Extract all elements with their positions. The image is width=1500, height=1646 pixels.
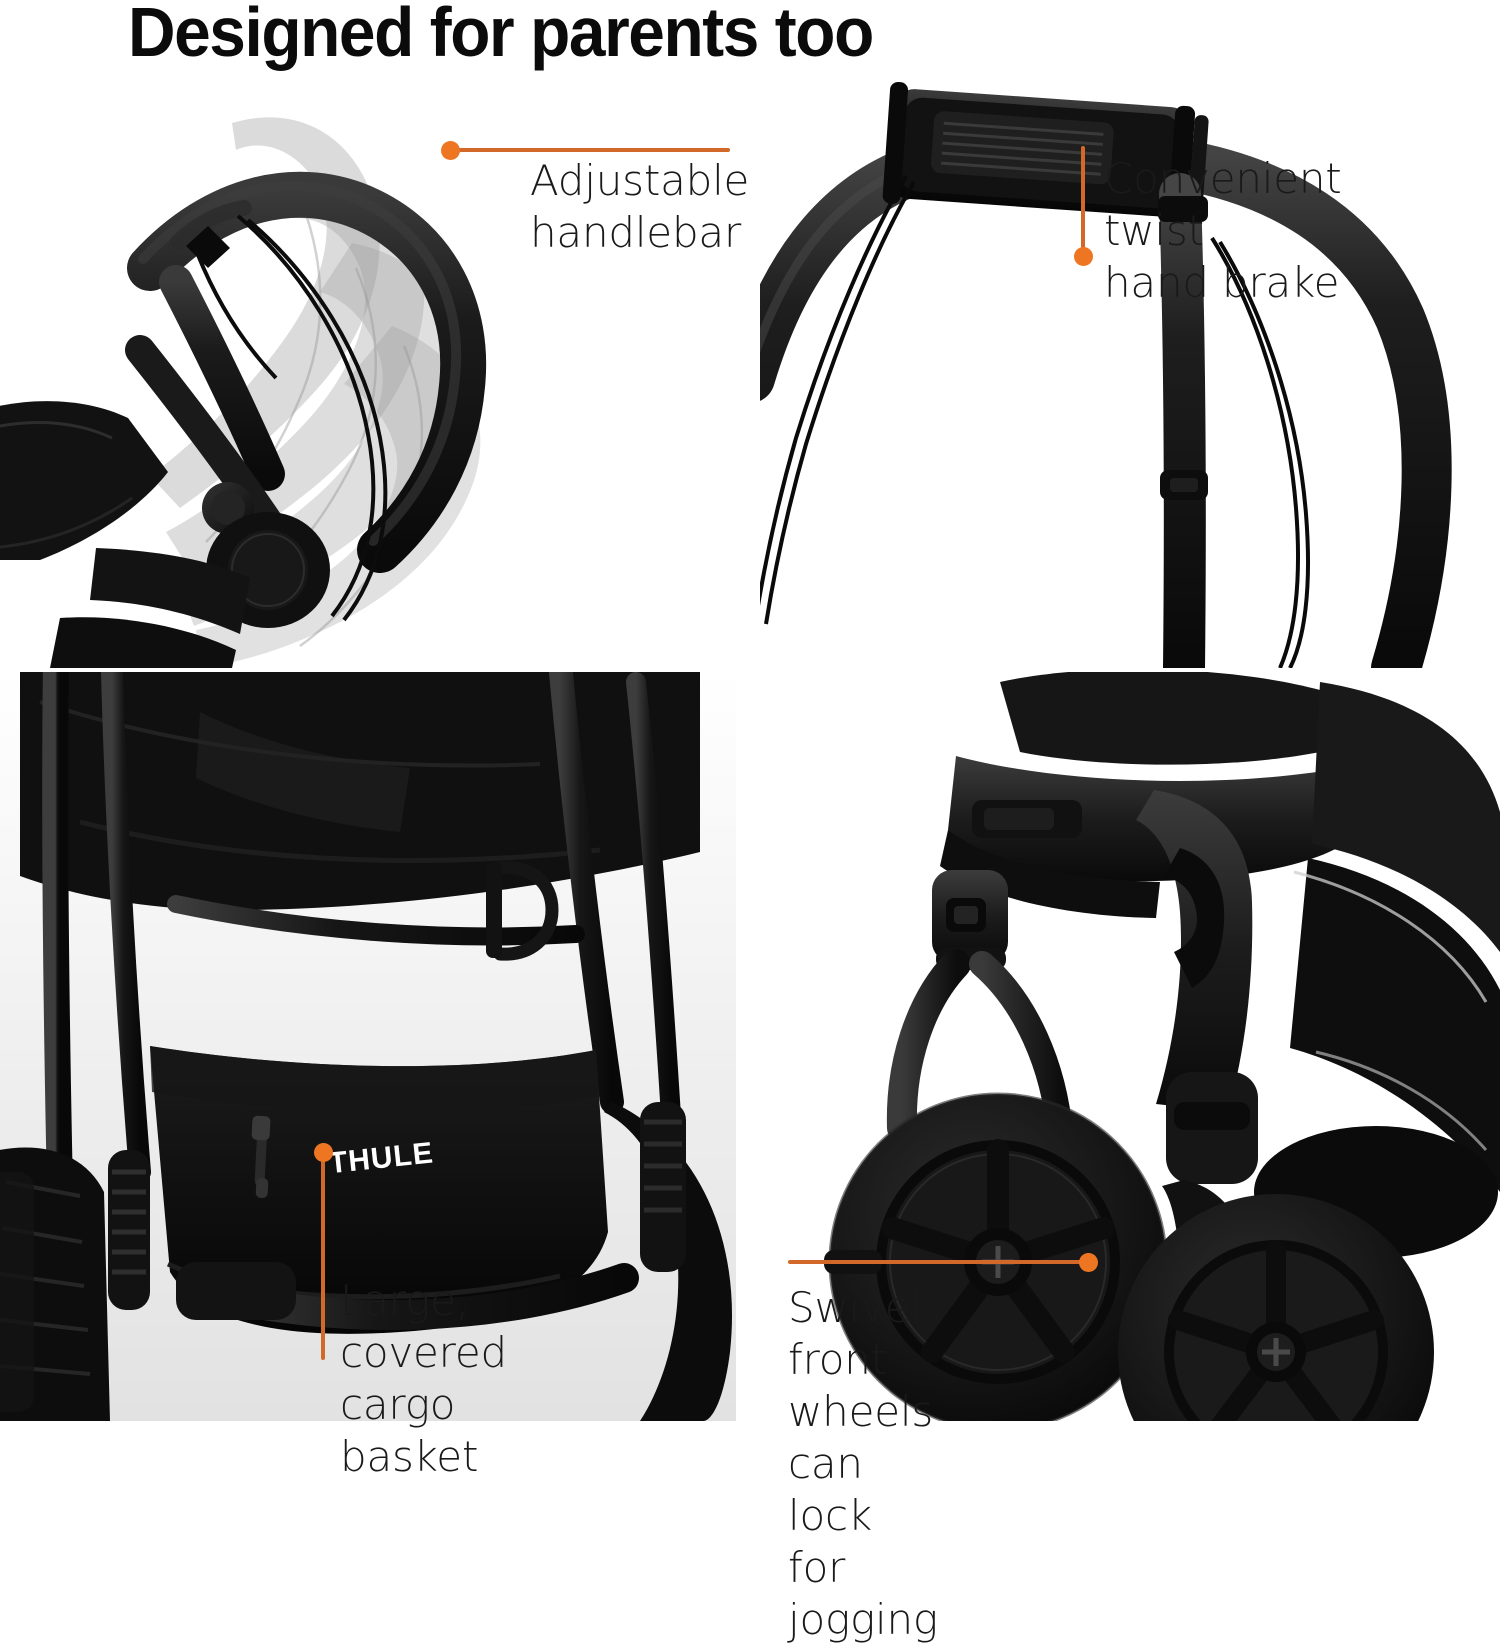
callout-dot — [1079, 1253, 1098, 1272]
suspension-spring — [108, 1150, 150, 1310]
callout-label: Adjustable handlebar — [530, 155, 749, 259]
callout-label: Large, covered cargo basket — [340, 1275, 507, 1483]
infographic-page: Designed for parents too — [0, 0, 1500, 1421]
callout-dot — [314, 1143, 333, 1162]
callout-leader-line — [455, 148, 730, 152]
grip-ribs — [930, 111, 1114, 185]
callout-leader-line — [321, 1155, 325, 1360]
callout-label: Swivel front wheels can lock for jogging — [788, 1282, 938, 1646]
callout-leader-line — [1081, 146, 1085, 256]
callout-dot — [1074, 247, 1093, 266]
callout-label: Convenient twist hand brake — [1104, 153, 1342, 309]
callout-leader-line — [788, 1260, 1088, 1264]
rear-wheel-left — [0, 1148, 110, 1421]
callout-dot — [441, 141, 460, 160]
swivel-lock-collar — [932, 870, 1008, 970]
page-title: Designed for parents too — [128, 0, 873, 72]
